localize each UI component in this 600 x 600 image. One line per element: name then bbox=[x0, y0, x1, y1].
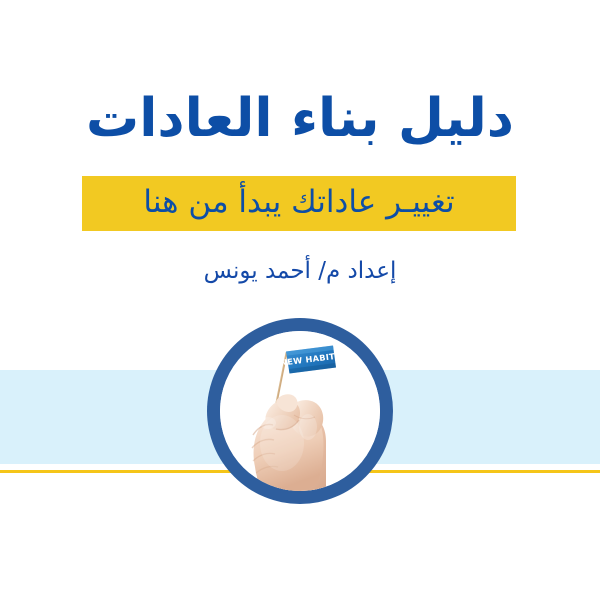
subtitle-banner: تغييـر عاداتك يبدأ من هنا bbox=[82, 176, 516, 231]
author-byline: إعداد م/ أحمد يونس bbox=[0, 258, 600, 284]
photo-clip-circle: NEW HABITS bbox=[220, 331, 380, 491]
circular-photo-frame: NEW HABITS bbox=[207, 318, 393, 504]
poster-canvas: دليل بناء العادات تغييـر عاداتك يبدأ من … bbox=[0, 0, 600, 600]
hand-holding-flag-photo: NEW HABITS bbox=[220, 331, 380, 491]
subtitle-text: تغييـر عاداتك يبدأ من هنا bbox=[143, 185, 454, 222]
page-title: دليل بناء العادات bbox=[0, 84, 600, 154]
